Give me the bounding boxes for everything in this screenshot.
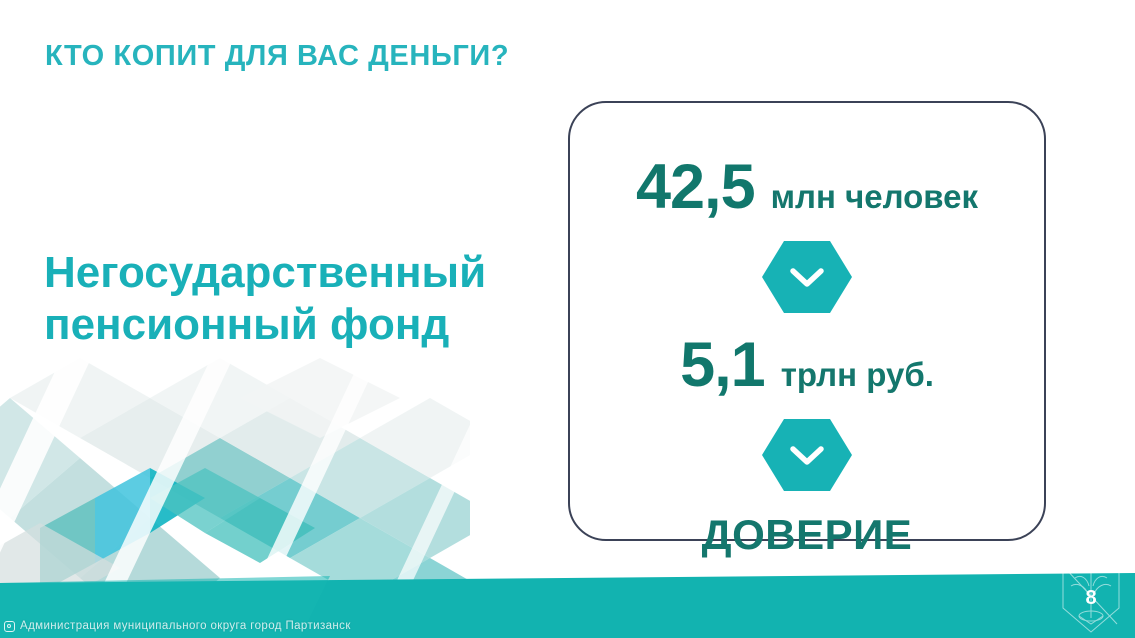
instagram-icon	[4, 621, 15, 632]
trust-label: ДОВЕРИЕ	[702, 511, 913, 559]
stat-row-people: 42,5 млн человек	[636, 151, 978, 223]
decorative-hexagon-pattern	[0, 338, 470, 638]
slide-canvas: КТО КОПИТ ДЛЯ ВАС ДЕНЬГИ? Негосударствен…	[0, 0, 1135, 638]
chevron-down-icon	[761, 417, 853, 493]
page-number: 8	[1055, 560, 1127, 636]
fund-name-heading: Негосударственный пенсионный фонд	[44, 247, 564, 351]
stats-card: 42,5 млн человек 5,1 трлн руб. ДОВЕРИЕ	[568, 101, 1046, 541]
stat-row-money: 5,1 трлн руб.	[680, 329, 934, 401]
stat-unit-people: млн человек	[771, 178, 978, 216]
page-title: КТО КОПИТ ДЛЯ ВАС ДЕНЬГИ?	[45, 40, 509, 73]
fund-name-line-2: пенсионный фонд	[44, 299, 564, 351]
fund-name-line-1: Негосударственный	[44, 247, 564, 299]
stat-value-people: 42,5	[636, 151, 755, 223]
stat-value-money: 5,1	[680, 329, 765, 401]
watermark: Администрация муниципального округа горо…	[4, 620, 351, 632]
watermark-text: Администрация муниципального округа горо…	[20, 620, 351, 632]
chevron-down-icon	[761, 239, 853, 315]
stat-unit-money: трлн руб.	[781, 356, 934, 394]
